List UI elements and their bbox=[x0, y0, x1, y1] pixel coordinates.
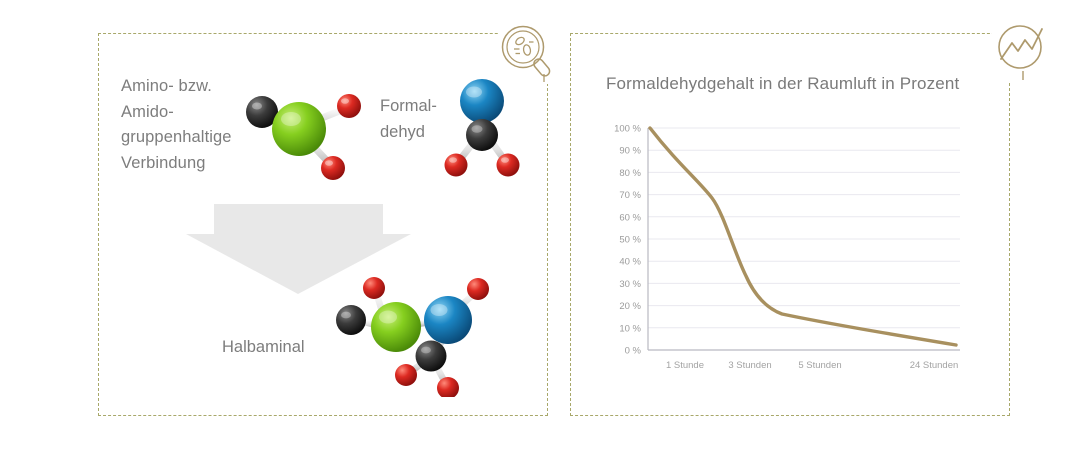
formaldehyde-molecule bbox=[436, 70, 528, 190]
y-tick: 10 % bbox=[619, 323, 641, 334]
halbaminal-molecule bbox=[326, 272, 506, 402]
y-tick: 20 % bbox=[619, 301, 641, 312]
y-tick: 80 % bbox=[619, 168, 641, 179]
halbaminal-label: Halbaminal bbox=[222, 338, 305, 357]
y-tick: 90 % bbox=[619, 146, 641, 157]
y-tick: 60 % bbox=[619, 212, 641, 223]
trend-chart-icon bbox=[992, 20, 1054, 82]
x-tick-labels: 1 Stunde 3 Stunden 5 Stunden 24 Stunden bbox=[666, 360, 958, 371]
y-tick: 50 % bbox=[619, 235, 641, 246]
x-tick: 24 Stunden bbox=[910, 360, 959, 371]
chart-title: Formaldehydgehalt in der Raumluft in Pro… bbox=[606, 74, 959, 94]
amino-compound-molecule bbox=[237, 83, 382, 198]
data-line bbox=[650, 128, 956, 345]
y-tick: 0 % bbox=[625, 346, 642, 357]
line-chart: 100 % 90 % 80 % 70 % 60 % 50 % 40 % 30 %… bbox=[600, 118, 1000, 378]
infographic-canvas: Amino- bzw. Amido- gruppenhaltige Verbin… bbox=[0, 0, 1080, 462]
y-tick: 30 % bbox=[619, 279, 641, 290]
y-tick: 70 % bbox=[619, 190, 641, 201]
y-tick: 100 % bbox=[614, 124, 641, 135]
magnifier-germ-icon bbox=[498, 22, 560, 84]
x-tick: 3 Stunden bbox=[728, 360, 771, 371]
x-tick: 5 Stunden bbox=[798, 360, 841, 371]
y-tick-labels: 100 % 90 % 80 % 70 % 60 % 50 % 40 % 30 %… bbox=[614, 124, 641, 357]
x-tick: 1 Stunde bbox=[666, 360, 704, 371]
gridlines bbox=[648, 128, 960, 328]
y-tick: 40 % bbox=[619, 257, 641, 268]
